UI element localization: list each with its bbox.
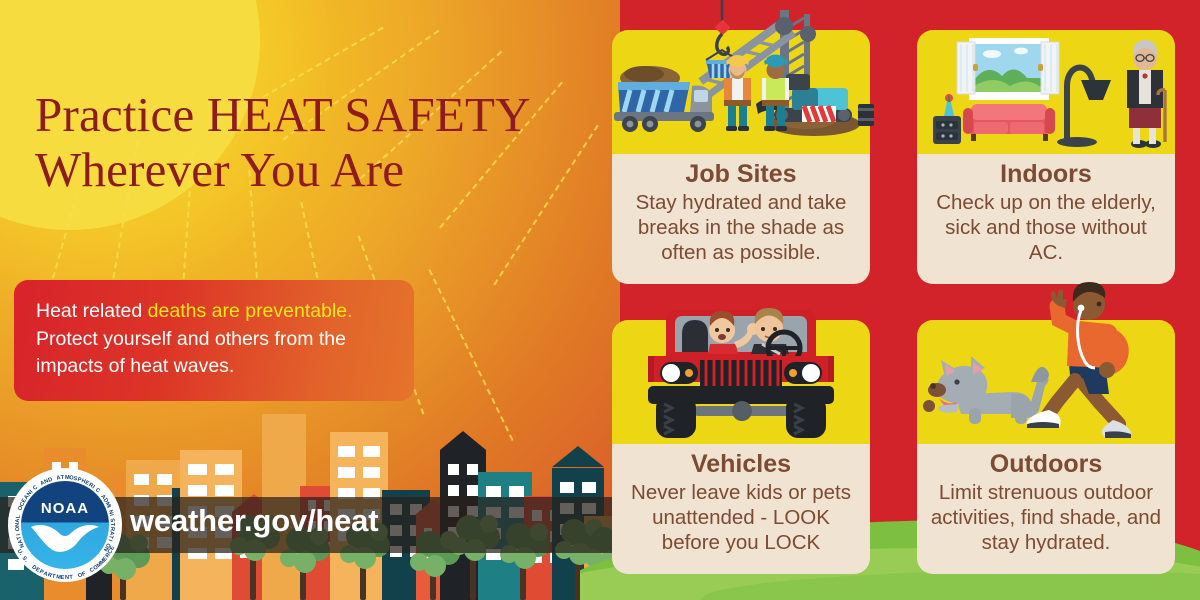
weather-gov-url[interactable]: weather.gov/heat	[130, 503, 378, 539]
indoors-clip	[917, 30, 1175, 154]
noaa-wordmark: NOAA	[21, 500, 109, 517]
runner-with-dog-icon	[923, 290, 1173, 446]
building-window	[467, 485, 478, 496]
noaa-seal-inner: NOAA	[21, 481, 109, 569]
job-sites-text: Job Sites Stay hydrated and take breaks …	[612, 154, 870, 284]
building-roof	[552, 446, 604, 467]
building-window	[560, 482, 574, 493]
card-description: Stay hydrated and take breaks in the sha…	[622, 190, 860, 265]
building-window	[157, 474, 172, 485]
building-window	[363, 467, 380, 478]
card-description: Limit strenuous outdoor activities, find…	[927, 480, 1165, 555]
card-title: Outdoors	[927, 450, 1165, 479]
indoors-illustration	[917, 30, 1175, 154]
card-job-sites[interactable]: Job Sites Stay hydrated and take breaks …	[612, 30, 870, 284]
tree-foliage	[410, 553, 428, 571]
building-window	[188, 464, 207, 475]
living-room-icon	[917, 30, 1175, 154]
building-window	[467, 464, 478, 475]
page-title: Practice HEAT SAFETY Wherever You Are	[35, 88, 600, 198]
outdoors-text: Outdoors Limit strenuous outdoor activit…	[917, 444, 1175, 574]
vehicles-illustration	[612, 320, 870, 444]
red-jeep-icon	[634, 298, 849, 448]
building-window	[338, 467, 355, 478]
building-window	[363, 446, 380, 457]
building-window	[338, 446, 355, 457]
card-outdoors[interactable]: Outdoors Limit strenuous outdoor activit…	[917, 320, 1175, 574]
card-indoors[interactable]: Indoors Check up on the elderly, sick an…	[917, 30, 1175, 284]
building-roof	[440, 431, 486, 450]
noaa-logo[interactable]: NATIONAL OCEANIC AND ATMOSPHERIC ADMINIS…	[8, 468, 122, 582]
building-window	[188, 485, 207, 496]
card-title: Vehicles	[622, 450, 860, 479]
card-title: Job Sites	[622, 160, 860, 189]
noaa-seagull-icon	[29, 521, 101, 559]
left-hero-panel: Practice HEAT SAFETY Wherever You Are He…	[0, 0, 620, 600]
card-vehicles[interactable]: Vehicles Never leave kids or pets unatte…	[612, 320, 870, 574]
building-window	[448, 485, 459, 496]
building-window	[582, 482, 596, 493]
card-description: Check up on the elderly, sick and those …	[927, 190, 1165, 265]
card-description: Never leave kids or pets unattended - LO…	[622, 480, 860, 555]
construction-scene-icon	[606, 0, 876, 160]
infographic-canvas: Practice HEAT SAFETY Wherever You Are He…	[0, 0, 1200, 600]
indoors-text: Indoors Check up on the elderly, sick an…	[917, 154, 1175, 284]
headline-line-2: Wherever You Are	[35, 143, 600, 198]
job-sites-illustration	[612, 30, 870, 154]
building-window	[448, 464, 459, 475]
building-window	[509, 486, 524, 497]
building-window	[134, 474, 149, 485]
outdoors-illustration	[917, 320, 1175, 444]
vehicles-text: Vehicles Never leave kids or pets unatte…	[612, 444, 870, 574]
building-window	[215, 464, 234, 475]
card-title: Indoors	[927, 160, 1165, 189]
callout-text-before: Heat related	[36, 300, 148, 322]
building-window	[486, 486, 501, 497]
headline-line-1: Practice HEAT SAFETY	[35, 87, 531, 142]
callout-highlight: deaths are preventable.	[148, 300, 353, 322]
